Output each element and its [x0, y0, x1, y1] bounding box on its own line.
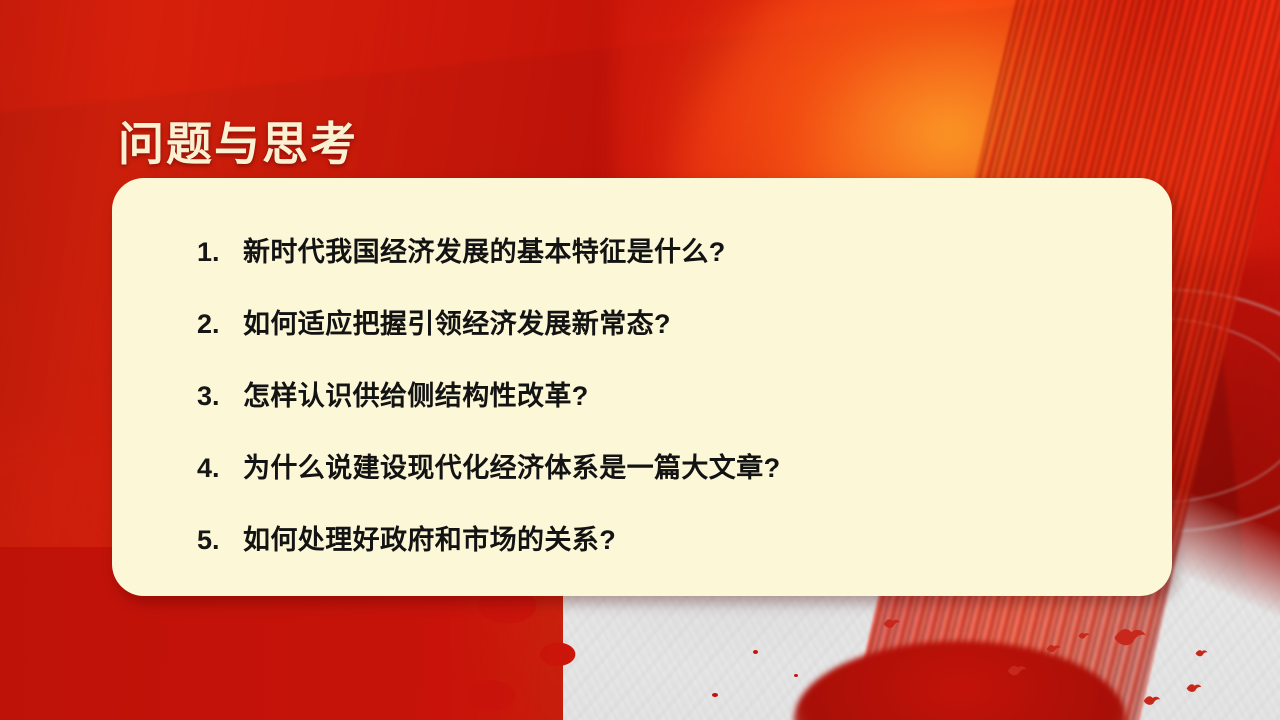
list-item-number: 2. [197, 309, 243, 340]
dove-icon [1113, 625, 1147, 651]
slide-canvas: 问题与思考 1. 新时代我国经济发展的基本特征是什么? 2. 如何适应把握引领经… [0, 0, 1280, 720]
dove-icon [1078, 631, 1090, 641]
list-item-number: 1. [197, 237, 243, 268]
question-card: 1. 新时代我国经济发展的基本特征是什么? 2. 如何适应把握引领经济发展新常态… [112, 178, 1172, 596]
list-item: 3. 怎样认识供给侧结构性改革? [197, 374, 1112, 446]
ink-speck [205, 677, 209, 681]
list-item: 1. 新时代我国经济发展的基本特征是什么? [197, 230, 1112, 302]
list-item-text: 如何处理好政府和市场的关系? [243, 518, 616, 557]
ink-speck [753, 650, 758, 654]
dove-icon [1195, 648, 1208, 659]
ink-speck [794, 674, 798, 677]
page-title: 问题与思考 [118, 108, 358, 174]
list-item-number: 3. [197, 381, 243, 412]
dove-icon [883, 617, 901, 631]
list-item: 2. 如何适应把握引领经济发展新常态? [197, 302, 1112, 374]
dove-icon [1007, 663, 1027, 679]
list-item-text: 如何适应把握引领经济发展新常态? [243, 302, 671, 341]
list-item-text: 为什么说建设现代化经济体系是一篇大文章? [243, 446, 781, 485]
list-item: 5. 如何处理好政府和市场的关系? [197, 518, 1112, 590]
list-item-number: 5. [197, 525, 243, 556]
dove-icon [1186, 682, 1202, 695]
list-item: 4. 为什么说建设现代化经济体系是一篇大文章? [197, 446, 1112, 518]
dove-icon [1046, 643, 1061, 655]
list-item-text: 怎样认识供给侧结构性改革? [243, 374, 589, 413]
dove-icon [1143, 694, 1161, 708]
list-item-text: 新时代我国经济发展的基本特征是什么? [243, 230, 726, 269]
list-item-number: 4. [197, 453, 243, 484]
ink-speck [712, 693, 718, 697]
